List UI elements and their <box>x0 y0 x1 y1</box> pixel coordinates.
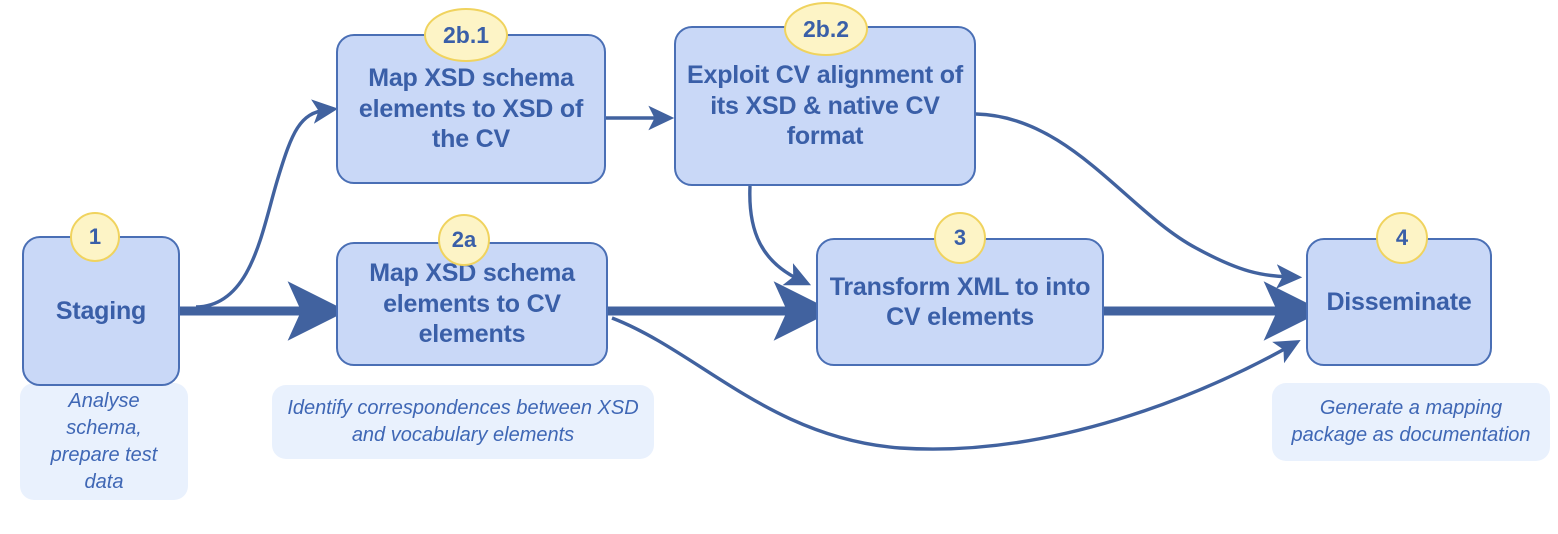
badge-exploit-text: 2b.2 <box>803 16 849 43</box>
node-map-cv-label: Map XSD schema elements to CV elements <box>338 258 606 350</box>
badge-staging: 1 <box>70 212 120 262</box>
badge-map-cv-text: 2a <box>452 227 476 253</box>
edge-staging-to-map-xsd <box>196 110 326 307</box>
badge-map-cv: 2a <box>438 214 490 266</box>
badge-map-xsd: 2b.1 <box>424 8 508 62</box>
node-map-xsd-label: Map XSD schema elements to XSD of the CV <box>338 63 604 155</box>
badge-staging-text: 1 <box>89 224 101 250</box>
badge-transform-text: 3 <box>954 225 966 251</box>
node-transform-label: Transform XML to into CV elements <box>818 272 1102 333</box>
node-exploit-label: Exploit CV alignment of its XSD & native… <box>676 60 974 152</box>
caption-map-cv-text: Identify correspondences between XSD and… <box>272 395 654 449</box>
badge-disseminate: 4 <box>1376 212 1428 264</box>
caption-disseminate: Generate a mapping package as documentat… <box>1272 383 1550 461</box>
diagram-canvas: Staging 1 Map XSD schema elements to XSD… <box>0 0 1558 534</box>
badge-disseminate-text: 4 <box>1396 225 1408 251</box>
caption-staging-text: Analyse schema, prepare test data <box>20 388 188 496</box>
edge-exploit-to-transform <box>750 186 800 280</box>
caption-map-cv: Identify correspondences between XSD and… <box>272 385 654 459</box>
node-disseminate-label: Disseminate <box>1308 287 1490 318</box>
caption-disseminate-text: Generate a mapping package as documentat… <box>1272 395 1550 449</box>
caption-staging: Analyse schema, prepare test data <box>20 383 188 500</box>
badge-transform: 3 <box>934 212 986 264</box>
badge-exploit: 2b.2 <box>784 2 868 56</box>
badge-map-xsd-text: 2b.1 <box>443 22 489 49</box>
node-staging-label: Staging <box>24 296 178 327</box>
